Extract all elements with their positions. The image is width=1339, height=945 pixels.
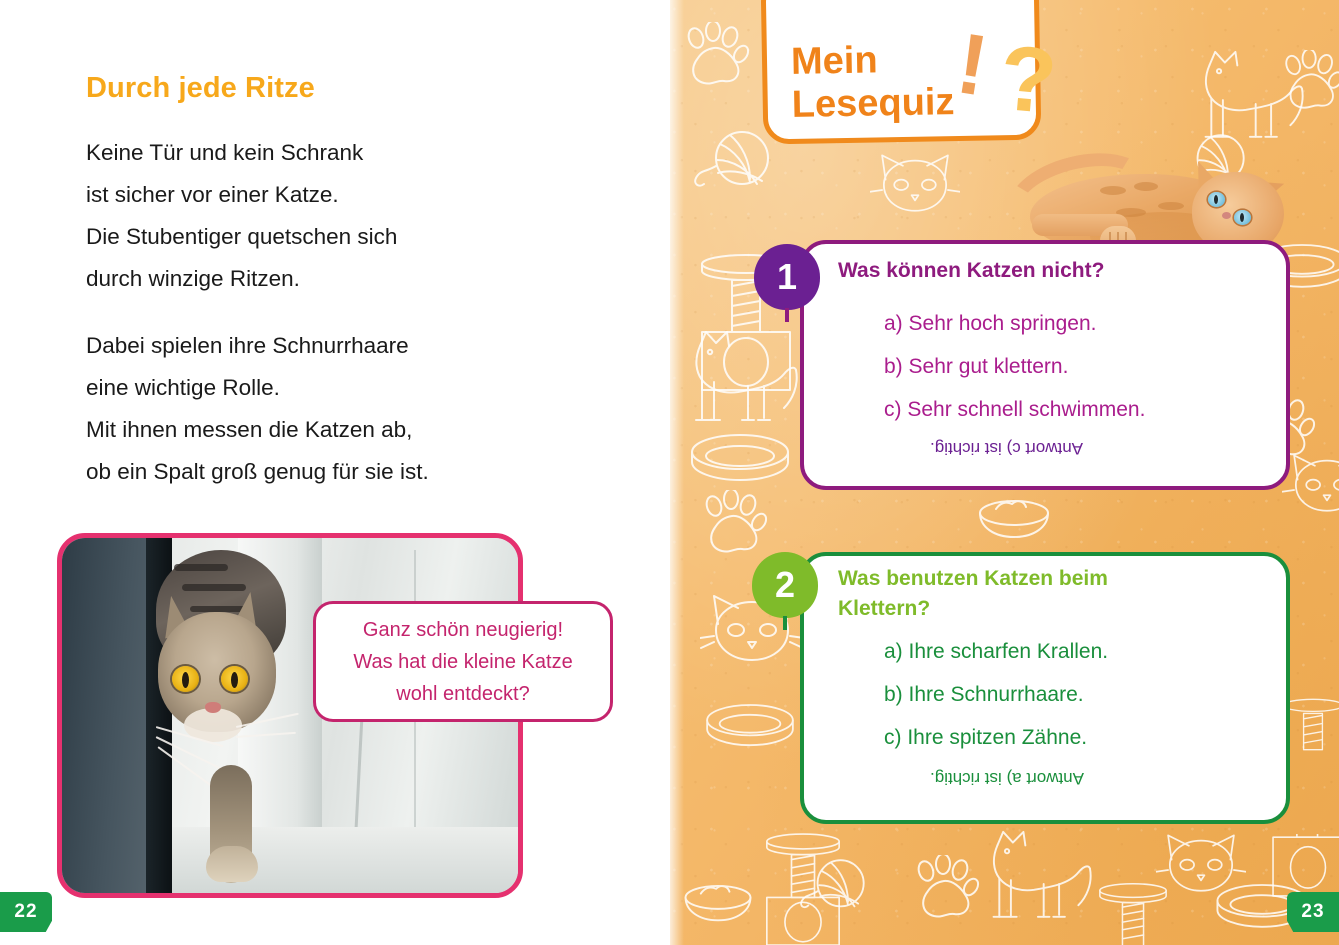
cat-stripe [1100, 186, 1126, 195]
question-mark-icon: ? [996, 32, 1060, 129]
body-line: Keine Tür und kein Schrank [86, 132, 397, 174]
body-line: eine wichtige Rolle. [86, 367, 429, 409]
quiz-number-badge-1: 1 [754, 244, 820, 310]
badge-stem [785, 308, 789, 322]
cat-pupil [182, 672, 189, 688]
body-line: Mit ihnen messen die Katzen ab, [86, 409, 429, 451]
cat-nose [1222, 212, 1231, 219]
body-paragraph-2: Dabei spielen ihre Schnurrhaare eine wic… [86, 325, 429, 493]
quiz-answers-2: a) Ihre scharfen Krallen. b) Ihre Schnur… [884, 630, 1108, 759]
quiz-number-1: 1 [777, 256, 797, 298]
quiz-answer-option[interactable]: b) Ihre Schnurrhaare. [884, 673, 1108, 716]
quiz-answer-option[interactable]: a) Sehr hoch springen. [884, 302, 1145, 345]
cat-whisker [236, 732, 296, 738]
door-jamb [62, 538, 150, 893]
book-spread: Durch jede Ritze Keine Tür und kein Schr… [0, 0, 1339, 945]
cat-stripe [1134, 182, 1158, 191]
cat-paw [206, 846, 258, 882]
cat-eye-left [172, 666, 199, 692]
body-paragraph-1: Keine Tür und kein Schrank ist sicher vo… [86, 132, 397, 300]
cat-stripe [182, 584, 246, 591]
quiz-title-line-1: Mein [791, 39, 878, 84]
left-page: Durch jede Ritze Keine Tür und kein Schr… [0, 0, 670, 945]
cat-stripe [1158, 202, 1184, 210]
body-line: ist sicher vor einer Katze. [86, 174, 397, 216]
body-line: durch winzige Ritzen. [86, 258, 397, 300]
quiz-question-text-1: Was können Katzen nicht? [838, 256, 1258, 286]
quiz-title-line-2: Lesequiz [791, 81, 954, 127]
cat-stripe [174, 564, 228, 571]
quiz-number-badge-2: 2 [752, 552, 818, 618]
quiz-solution-2: Antwort a) ist richtig. [930, 768, 1084, 788]
caption-bubble-text: Ganz schön neugierig! Was hat die kleine… [353, 614, 572, 710]
cat-eye-right [221, 666, 248, 692]
quiz-solution-1: Antwort c) ist richtig. [930, 438, 1083, 458]
cat-eye-right [1234, 210, 1251, 225]
quiz-answer-option[interactable]: b) Sehr gut klettern. [884, 345, 1145, 388]
caption-line: Was hat die kleine Katze [353, 646, 572, 678]
caption-line: wohl entdeckt? [353, 678, 572, 710]
right-page: Mein Lesequiz ! ? 1 Was können Katzen ni… [670, 0, 1339, 945]
caption-line: Ganz schön neugierig! [353, 614, 572, 646]
cat-nose [205, 702, 221, 713]
quiz-number-2: 2 [775, 564, 795, 606]
tabby-cat-figure [150, 550, 310, 880]
page-number-right: 23 [1287, 892, 1339, 932]
body-line: Dabei spielen ihre Schnurrhaare [86, 325, 429, 367]
cat-pupil [1214, 195, 1218, 204]
caption-bubble: Ganz schön neugierig! Was hat die kleine… [313, 601, 613, 722]
cat-pupil [1240, 213, 1244, 222]
quiz-answer-option[interactable]: a) Ihre scharfen Krallen. [884, 630, 1108, 673]
page-gutter [670, 0, 684, 945]
quiz-answer-option[interactable]: c) Sehr schnell schwimmen. [884, 388, 1145, 431]
body-line: Die Stubentiger quetschen sich [86, 216, 397, 258]
cat-pupil [231, 672, 238, 688]
body-line: ob ein Spalt groß genug für sie ist. [86, 451, 429, 493]
page-number-left: 22 [0, 892, 52, 932]
page-title: Durch jede Ritze [86, 72, 315, 105]
badge-stem [783, 616, 787, 630]
quiz-answers-1: a) Sehr hoch springen. b) Sehr gut klett… [884, 302, 1145, 431]
quiz-answer-option[interactable]: c) Ihre spitzen Zähne. [884, 716, 1108, 759]
cat-eye-left [1208, 192, 1225, 207]
quiz-question-text-2: Was benutzen Katzen beim Klettern? [838, 564, 1198, 624]
